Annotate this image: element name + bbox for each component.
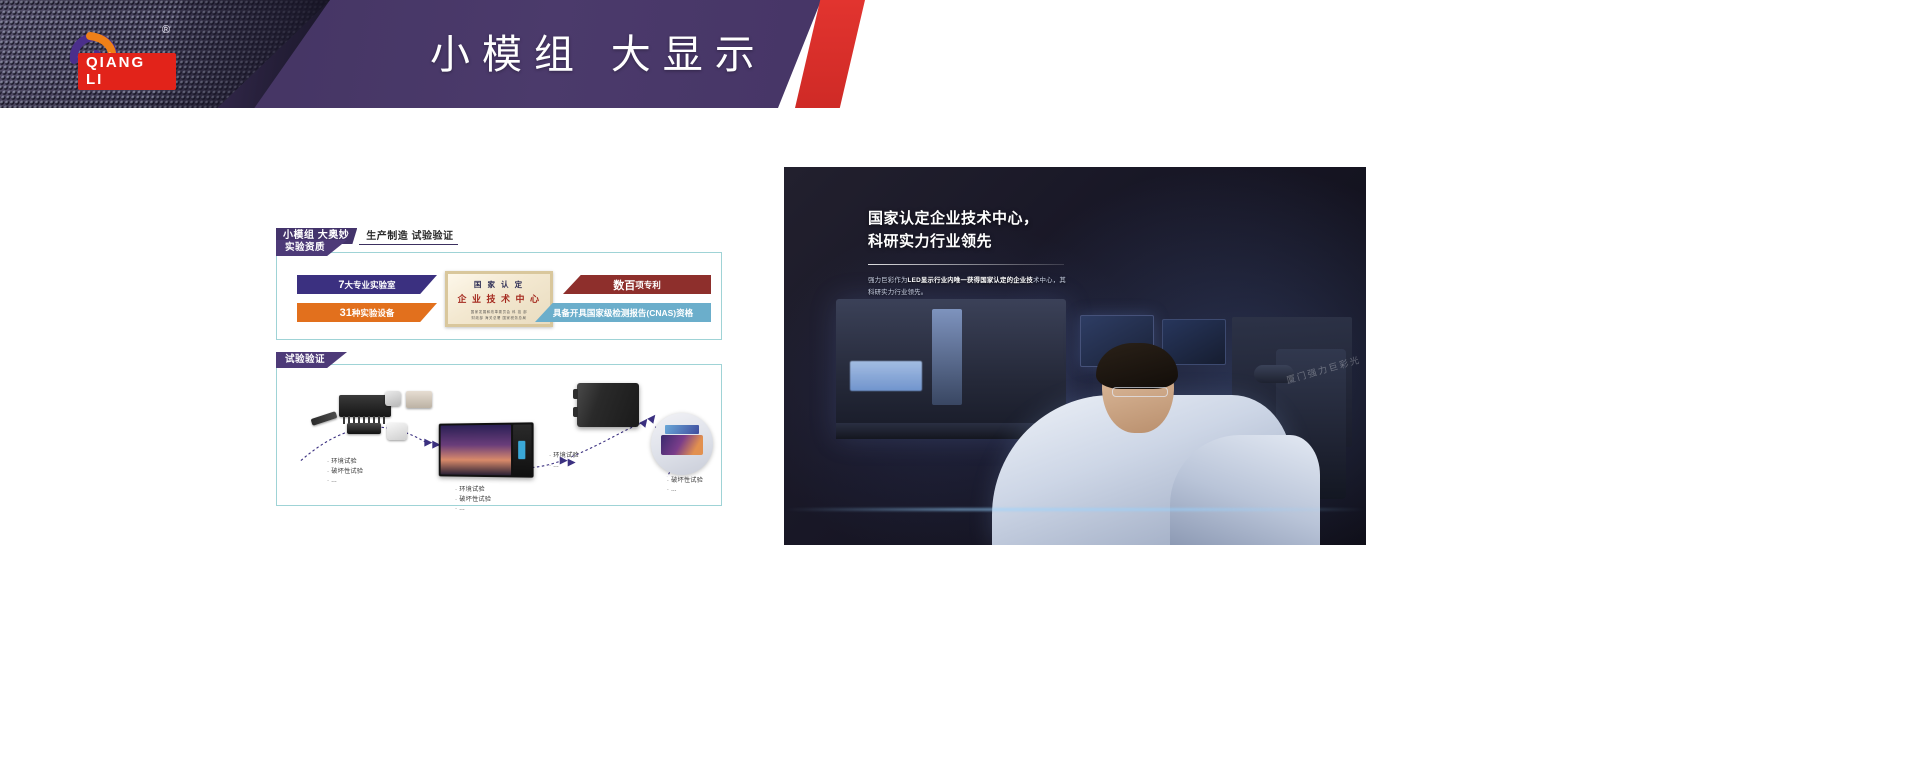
certificate-line3: 国家发展和改革委员会 科 技 部 [471, 309, 528, 314]
label2-line3: ... [455, 504, 491, 514]
national-certificate: 国 家 认 定 企 业 技 术 中 心 国家发展和改革委员会 科 技 部 财政部… [445, 271, 553, 327]
desc-highlight: LED显示行业内唯一获得国家认定的企业技 [908, 277, 1033, 284]
qualification-section: 实验资质 7大专业实验室 31种实验设备 国 家 认 定 企 业 技 术 中 心… [276, 252, 722, 340]
certificate-line4: 财政部 海关总署 国家税务总局 [472, 315, 527, 320]
patents-text: 项专利 [635, 279, 661, 291]
equipment-count: 31 [340, 307, 352, 319]
qualification-body: 7大专业实验室 31种实验设备 国 家 认 定 企 业 技 术 中 心 国家发展… [277, 253, 721, 339]
ic-chip [347, 423, 381, 434]
right-panel-title: 国家认定企业技术中心， 科研实力行业领先 [868, 207, 1228, 254]
connector-chip [339, 395, 391, 417]
led-lamp [387, 423, 407, 440]
right-panel-description: 强力巨彩作为LED显示行业内唯一获得国家认定的企业技术中心，其科研实力行业领先。 [868, 275, 1068, 299]
cnas-text: 具备开具国家级检测报告(CNAS)资格 [553, 307, 693, 319]
validation-label-1: 环境试验 破坏性试验 ... [327, 457, 363, 486]
label4-line1: 破坏性试验 [667, 476, 703, 486]
validation-label-3: 环境试验 ... [549, 451, 579, 470]
display-side-panel [513, 424, 531, 475]
led-module-display [439, 422, 534, 477]
validation-label-4: 破坏性试验 ... [667, 476, 703, 495]
registered-mark-icon: ® [162, 24, 170, 36]
validation-body: 环境试验 破坏性试验 ... 环境试验 破坏性试验 ... 环境试验 ... 破… [277, 365, 721, 505]
label3-line1: 环境试验 [549, 451, 579, 461]
right-title-line2: 科研实力行业领先 [868, 230, 1228, 253]
screw-icon [311, 411, 338, 426]
label1-line3: ... [327, 476, 363, 486]
led-cabinet [577, 383, 639, 427]
display-screen [441, 425, 511, 476]
right-title-line1: 国家认定企业技术中心， [868, 207, 1228, 230]
finished-product-photo [651, 413, 713, 475]
right-panel-divider [868, 264, 1064, 265]
component-group [311, 389, 431, 449]
certificate-line2: 企 业 技 术 中 心 [457, 292, 540, 305]
label4-line2: ... [667, 485, 703, 495]
floor-light [784, 508, 1366, 511]
terminal-block [406, 391, 432, 408]
brand-logo: ® 强力巨彩 QIANG LI [56, 20, 176, 92]
validation-section: 试验验证 [276, 364, 722, 506]
page-title: 小模组 大显示 [430, 22, 767, 80]
desc-part1: 强力巨彩作为 [868, 277, 908, 284]
left-content-panel: 小模组 大奥妙 生产制造 试验验证 实验资质 7大专业实验室 31种实验设备 国… [276, 228, 722, 506]
qualification-arrow-patents: 数百项专利 [563, 275, 711, 294]
researcher-photo [992, 343, 1322, 545]
label3-line2: ... [549, 461, 579, 471]
researcher-hair [1096, 343, 1178, 389]
labs-text: 大专业实验室 [345, 279, 396, 291]
certificate-line1: 国 家 认 定 [474, 279, 524, 290]
qualification-arrow-labs: 7大专业实验室 [297, 275, 437, 294]
label2-line1: 环境试验 [455, 485, 491, 495]
equipment-light [850, 361, 922, 391]
product-top-strip [665, 425, 699, 434]
right-image-panel: 国家认定企业技术中心， 科研实力行业领先 强力巨彩作为LED显示行业内唯一获得国… [784, 167, 1366, 545]
qualification-arrow-equipment: 31种实验设备 [297, 303, 437, 322]
qualification-arrow-cnas: 具备开具国家级检测报告(CNAS)资格 [535, 303, 711, 322]
equipment-text: 种实验设备 [352, 307, 395, 319]
patents-count: 数百 [613, 277, 635, 293]
tag-subtitle: 生产制造 试验验证 [359, 227, 457, 245]
validation-label-2: 环境试验 破坏性试验 ... [455, 485, 491, 514]
label1-line1: 环境试验 [327, 457, 363, 467]
page-header: ® 强力巨彩 QIANG LI 小模组 大显示 [0, 0, 920, 108]
label2-line2: 破坏性试验 [455, 495, 491, 505]
equipment-column [932, 309, 962, 405]
label1-line2: 破坏性试验 [327, 467, 363, 477]
desc-part2: 术中心 [1033, 277, 1053, 284]
product-screen [661, 435, 703, 455]
logo-brand-en: QIANG LI [78, 53, 176, 90]
glasses-icon [1112, 387, 1168, 397]
smd-component [385, 391, 401, 406]
